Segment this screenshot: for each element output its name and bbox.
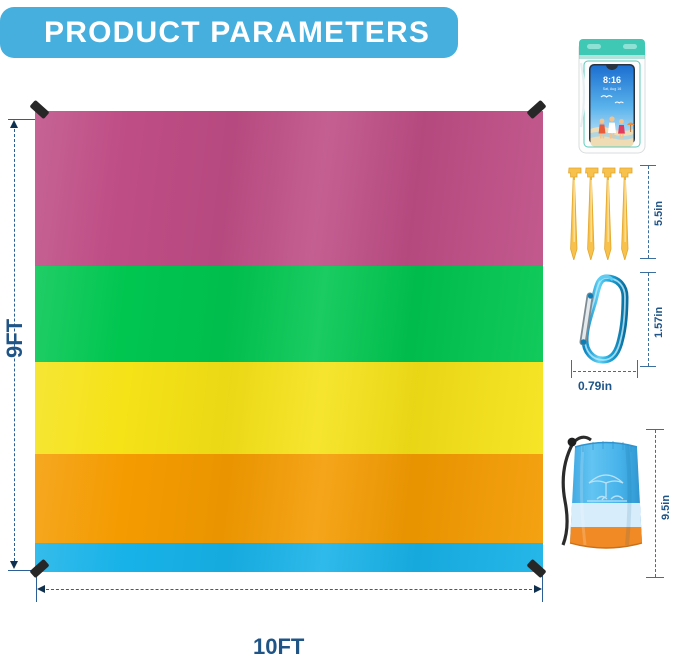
stakes-dim-line	[648, 166, 649, 258]
corner-tab-bottom-right	[526, 559, 546, 578]
bag-dim-line	[655, 430, 656, 577]
stakes-dimension-label: 5.5in	[653, 201, 665, 226]
stripe-green	[35, 266, 543, 362]
carabiner-clip	[570, 270, 642, 370]
carry-bag	[553, 425, 659, 585]
blanket-height-label: 9FT	[2, 319, 28, 358]
bag-dimension-label: 9.5in	[660, 495, 672, 520]
bag-dim-tick-bottom	[646, 577, 664, 578]
carabiner-width-label: 0.79in	[578, 379, 612, 393]
stripe-blue	[35, 543, 543, 572]
blanket-graphic	[35, 111, 543, 572]
carabiner-dim-line-vertical	[648, 273, 649, 366]
page-title: PRODUCT PARAMETERS	[44, 16, 430, 50]
carabiner-height-label: 1.57in	[653, 307, 665, 338]
carabiner-dim-tick-right	[637, 360, 638, 378]
waterproof-phone-case: 8:16 Sat, Aug 16	[563, 33, 661, 161]
carabiner-dim-line-horizontal	[573, 371, 636, 372]
stakes-dim-tick-bottom	[640, 258, 656, 259]
svg-text:Sat, Aug 16: Sat, Aug 16	[603, 87, 622, 91]
carabiner-dim-tick-left	[571, 360, 572, 378]
header-banner: PRODUCT PARAMETERS	[0, 7, 458, 58]
carabiner-dim-tick-bottom	[640, 366, 656, 367]
dim-line-horizontal	[41, 589, 537, 590]
blanket-width-label: 10FT	[253, 634, 304, 660]
stripe-orange	[35, 454, 543, 544]
svg-text:8:16: 8:16	[603, 75, 621, 85]
dim-arrow-down	[10, 561, 18, 569]
blanket-figure: 9FT 10FT	[0, 58, 560, 611]
dim-arrow-up	[10, 120, 18, 128]
accessories-column: 8:16 Sat, Aug 16	[545, 0, 679, 611]
stripe-magenta	[35, 111, 543, 266]
dim-arrow-right	[534, 585, 542, 593]
stripe-yellow	[35, 362, 543, 454]
tent-stakes	[565, 162, 643, 260]
dim-arrow-left	[37, 585, 45, 593]
